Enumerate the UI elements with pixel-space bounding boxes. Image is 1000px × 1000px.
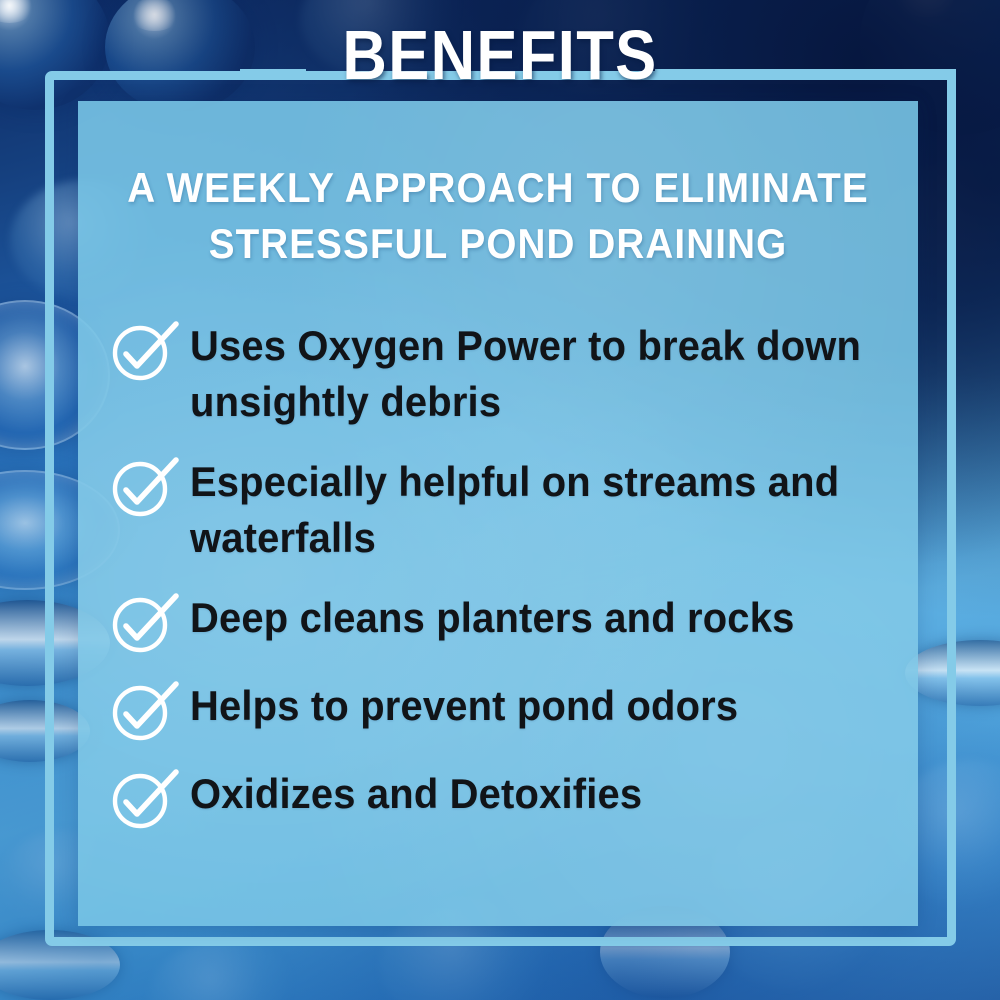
list-item: Helps to prevent pond odors [110, 678, 900, 742]
check-circle-icon [110, 770, 184, 830]
check-circle-icon [110, 458, 184, 518]
list-item-label: Oxidizes and Detoxifies [190, 766, 865, 822]
header: BENEFITS [0, 14, 1000, 100]
subtitle: A WEEKLY APPROACH TO ELIMINATE STRESSFUL… [78, 160, 918, 272]
benefits-list: Uses Oxygen Power to break down unsightl… [110, 318, 900, 830]
list-item-label: Helps to prevent pond odors [190, 678, 865, 734]
page-title: BENEFITS [60, 14, 940, 96]
check-circle-icon [110, 682, 184, 742]
list-item-label: Uses Oxygen Power to break down unsightl… [190, 318, 865, 430]
list-item-label: Deep cleans planters and rocks [190, 590, 865, 646]
list-item: Uses Oxygen Power to break down unsightl… [110, 318, 900, 430]
subtitle-line-1: A WEEKLY APPROACH TO ELIMINATE [112, 160, 885, 216]
list-item-label: Especially helpful on streams and waterf… [190, 454, 865, 566]
list-item: Oxidizes and Detoxifies [110, 766, 900, 830]
list-item: Deep cleans planters and rocks [110, 590, 900, 654]
check-circle-icon [110, 322, 184, 382]
benefits-infographic: BENEFITS A WEEKLY APPROACH TO ELIMINATE … [0, 0, 1000, 1000]
check-circle-icon [110, 594, 184, 654]
subtitle-line-2: STRESSFUL POND DRAINING [112, 216, 885, 272]
list-item: Especially helpful on streams and waterf… [110, 454, 900, 566]
